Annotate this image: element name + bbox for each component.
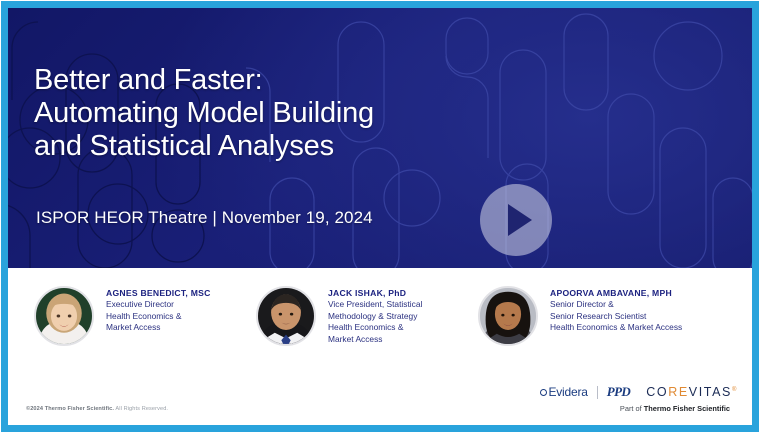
brand-logos: Evidera PPD COREVITAS® Part of Thermo Fi…: [540, 384, 738, 413]
speaker-card-apoorva-ambavane: APOORVA AMBAVANE, MPH Senior Director & …: [478, 286, 682, 346]
speaker-info: APOORVA AMBAVANE, MPH Senior Director & …: [550, 287, 682, 334]
hero-panel: Better and Faster: Automating Model Buil…: [8, 8, 752, 268]
copyright-bold: ©2024 Thermo Fisher Scientific.: [26, 406, 114, 412]
corevitas-logo: COREVITAS®: [646, 385, 738, 399]
corevitas-re: RE: [668, 385, 689, 399]
avatar: [256, 286, 316, 346]
copyright-rest: All Rights Reserved.: [114, 406, 168, 412]
speaker-info: AGNES BENEDICT, MSC Executive Director H…: [106, 287, 211, 334]
corevitas-vitas: VITAS: [689, 385, 732, 399]
avatar: [478, 286, 538, 346]
evidera-circle-icon: [540, 389, 547, 396]
title-line-2: Automating Model Building: [34, 97, 504, 130]
ppd-logo: PPD: [607, 384, 630, 400]
speaker-role-line: Market Access: [106, 322, 211, 334]
speaker-name: APOORVA AMBAVANE, MPH: [550, 287, 682, 299]
speaker-role-line: Health Economics &: [328, 322, 422, 334]
speaker-name: AGNES BENEDICT, MSC: [106, 287, 211, 299]
speaker-role-line: Health Economics &: [106, 311, 211, 323]
speaker-role-line: Market Access: [328, 334, 422, 346]
speaker-card-jack-ishak: JACK ISHAK, PhD Vice President, Statisti…: [256, 286, 422, 346]
speakers-panel: AGNES BENEDICT, MSC Executive Director H…: [8, 268, 752, 378]
page-title: Better and Faster: Automating Model Buil…: [34, 64, 504, 163]
speaker-role-line: Senior Research Scientist: [550, 311, 682, 323]
evidera-logo: Evidera: [540, 385, 587, 399]
speaker-name: JACK ISHAK, PhD: [328, 287, 422, 299]
speaker-card-agnes-benedict: AGNES BENEDICT, MSC Executive Director H…: [34, 286, 211, 346]
speaker-role-line: Methodology & Strategy: [328, 311, 422, 323]
copyright-text: ©2024 Thermo Fisher Scientific. All Righ…: [26, 406, 168, 412]
speaker-role-line: Executive Director: [106, 299, 211, 311]
speaker-role-line: Senior Director &: [550, 299, 682, 311]
tagline-prefix: Part of: [620, 404, 644, 413]
speaker-role-line: Vice President, Statistical: [328, 299, 422, 311]
evidera-wordmark: Evidera: [548, 385, 587, 399]
avatar-photo-jack: [258, 288, 314, 344]
play-icon: [508, 204, 532, 236]
avatar-photo-apoorva: [480, 288, 536, 344]
play-button[interactable]: [480, 184, 552, 256]
title-line-1: Better and Faster:: [34, 64, 504, 97]
event-subtitle: ISPOR HEOR Theatre | November 19, 2024: [36, 208, 373, 228]
video-thumbnail-slide: Better and Faster: Automating Model Buil…: [0, 0, 760, 433]
tagline-bold: Thermo Fisher Scientific: [644, 404, 730, 413]
speaker-info: JACK ISHAK, PhD Vice President, Statisti…: [328, 287, 422, 345]
logo-divider: [597, 386, 598, 399]
speaker-role-line: Health Economics & Market Access: [550, 322, 682, 334]
avatar: [34, 286, 94, 346]
title-line-3: and Statistical Analyses: [34, 130, 504, 163]
corevitas-trademark: ®: [732, 387, 738, 393]
avatar-photo-agnes: [36, 288, 92, 344]
parent-company-tagline: Part of Thermo Fisher Scientific: [540, 404, 738, 413]
corevitas-co: CO: [646, 385, 668, 399]
footer: ©2024 Thermo Fisher Scientific. All Righ…: [8, 378, 752, 425]
